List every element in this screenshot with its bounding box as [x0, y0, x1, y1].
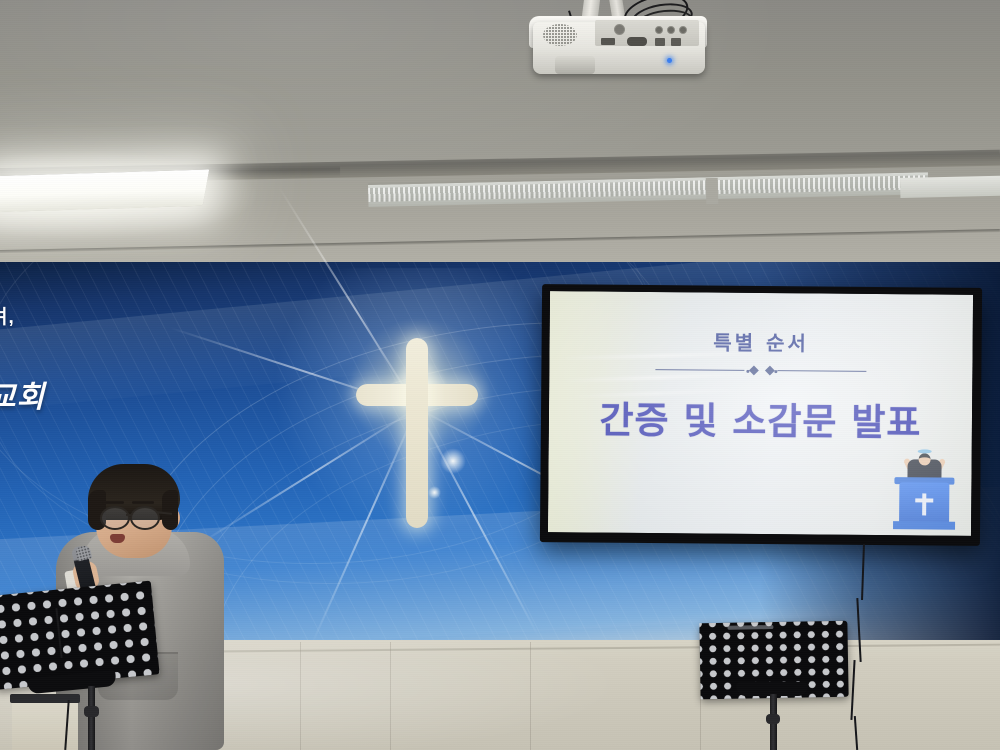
banner-text-line2: 교회	[0, 372, 45, 416]
projector-port-vga	[627, 37, 647, 46]
projector-port-rca-3	[679, 26, 687, 34]
projector-lens-housing	[555, 56, 595, 74]
eyeglasses-lens-left	[100, 506, 130, 530]
music-stand-rear[interactable]	[700, 622, 848, 750]
projector-port-rca-1	[655, 26, 663, 34]
fluorescent-clip	[706, 178, 719, 204]
tv-screen: 특별 순서 간증 및 소감문 발표	[548, 291, 973, 536]
music-stand-rear-height-knob[interactable]	[766, 714, 780, 724]
speaker-mouth	[110, 534, 125, 543]
glowing-cross-icon	[330, 318, 510, 538]
fluorescent-fixture-end	[900, 176, 1000, 198]
projector-status-led-icon	[667, 58, 672, 63]
cross-vertical-bar	[406, 338, 428, 528]
speaker-brow-right	[132, 501, 154, 504]
projector-port-hdmi	[601, 38, 615, 45]
speaker-brow-left	[102, 501, 124, 504]
presentation-slide: 특별 순서 간증 및 소감문 발표	[548, 291, 973, 536]
music-stand-front-height-knob[interactable]	[84, 706, 99, 717]
eyeglasses-lens-right	[130, 506, 160, 530]
ceiling-projector	[515, 0, 725, 114]
projector-port-lan	[655, 38, 665, 46]
speaker-hair-side-right	[162, 490, 178, 530]
music-stand-front-pole	[88, 686, 95, 750]
wall-mounted-tv[interactable]: 특별 순서 간증 및 소감문 발표	[540, 284, 982, 546]
cross-sparkle-1	[440, 448, 466, 474]
slide-vignette	[548, 291, 973, 536]
projector-focus-dial[interactable]	[614, 24, 625, 35]
cross-sparkle-2	[428, 486, 441, 499]
speaker-grille-icon	[543, 24, 577, 46]
music-stand-front[interactable]	[0, 588, 170, 750]
photo-scene: 며, 교회 특별 순서	[0, 0, 1000, 750]
projector-port-usb	[671, 38, 681, 46]
eyeglasses-bridge	[126, 514, 132, 516]
ceiling-light-wash	[0, 0, 1000, 268]
led-panel-light	[0, 169, 209, 212]
projector-port-rca-2	[667, 26, 675, 34]
banner-text-line1: 며,	[0, 302, 15, 329]
